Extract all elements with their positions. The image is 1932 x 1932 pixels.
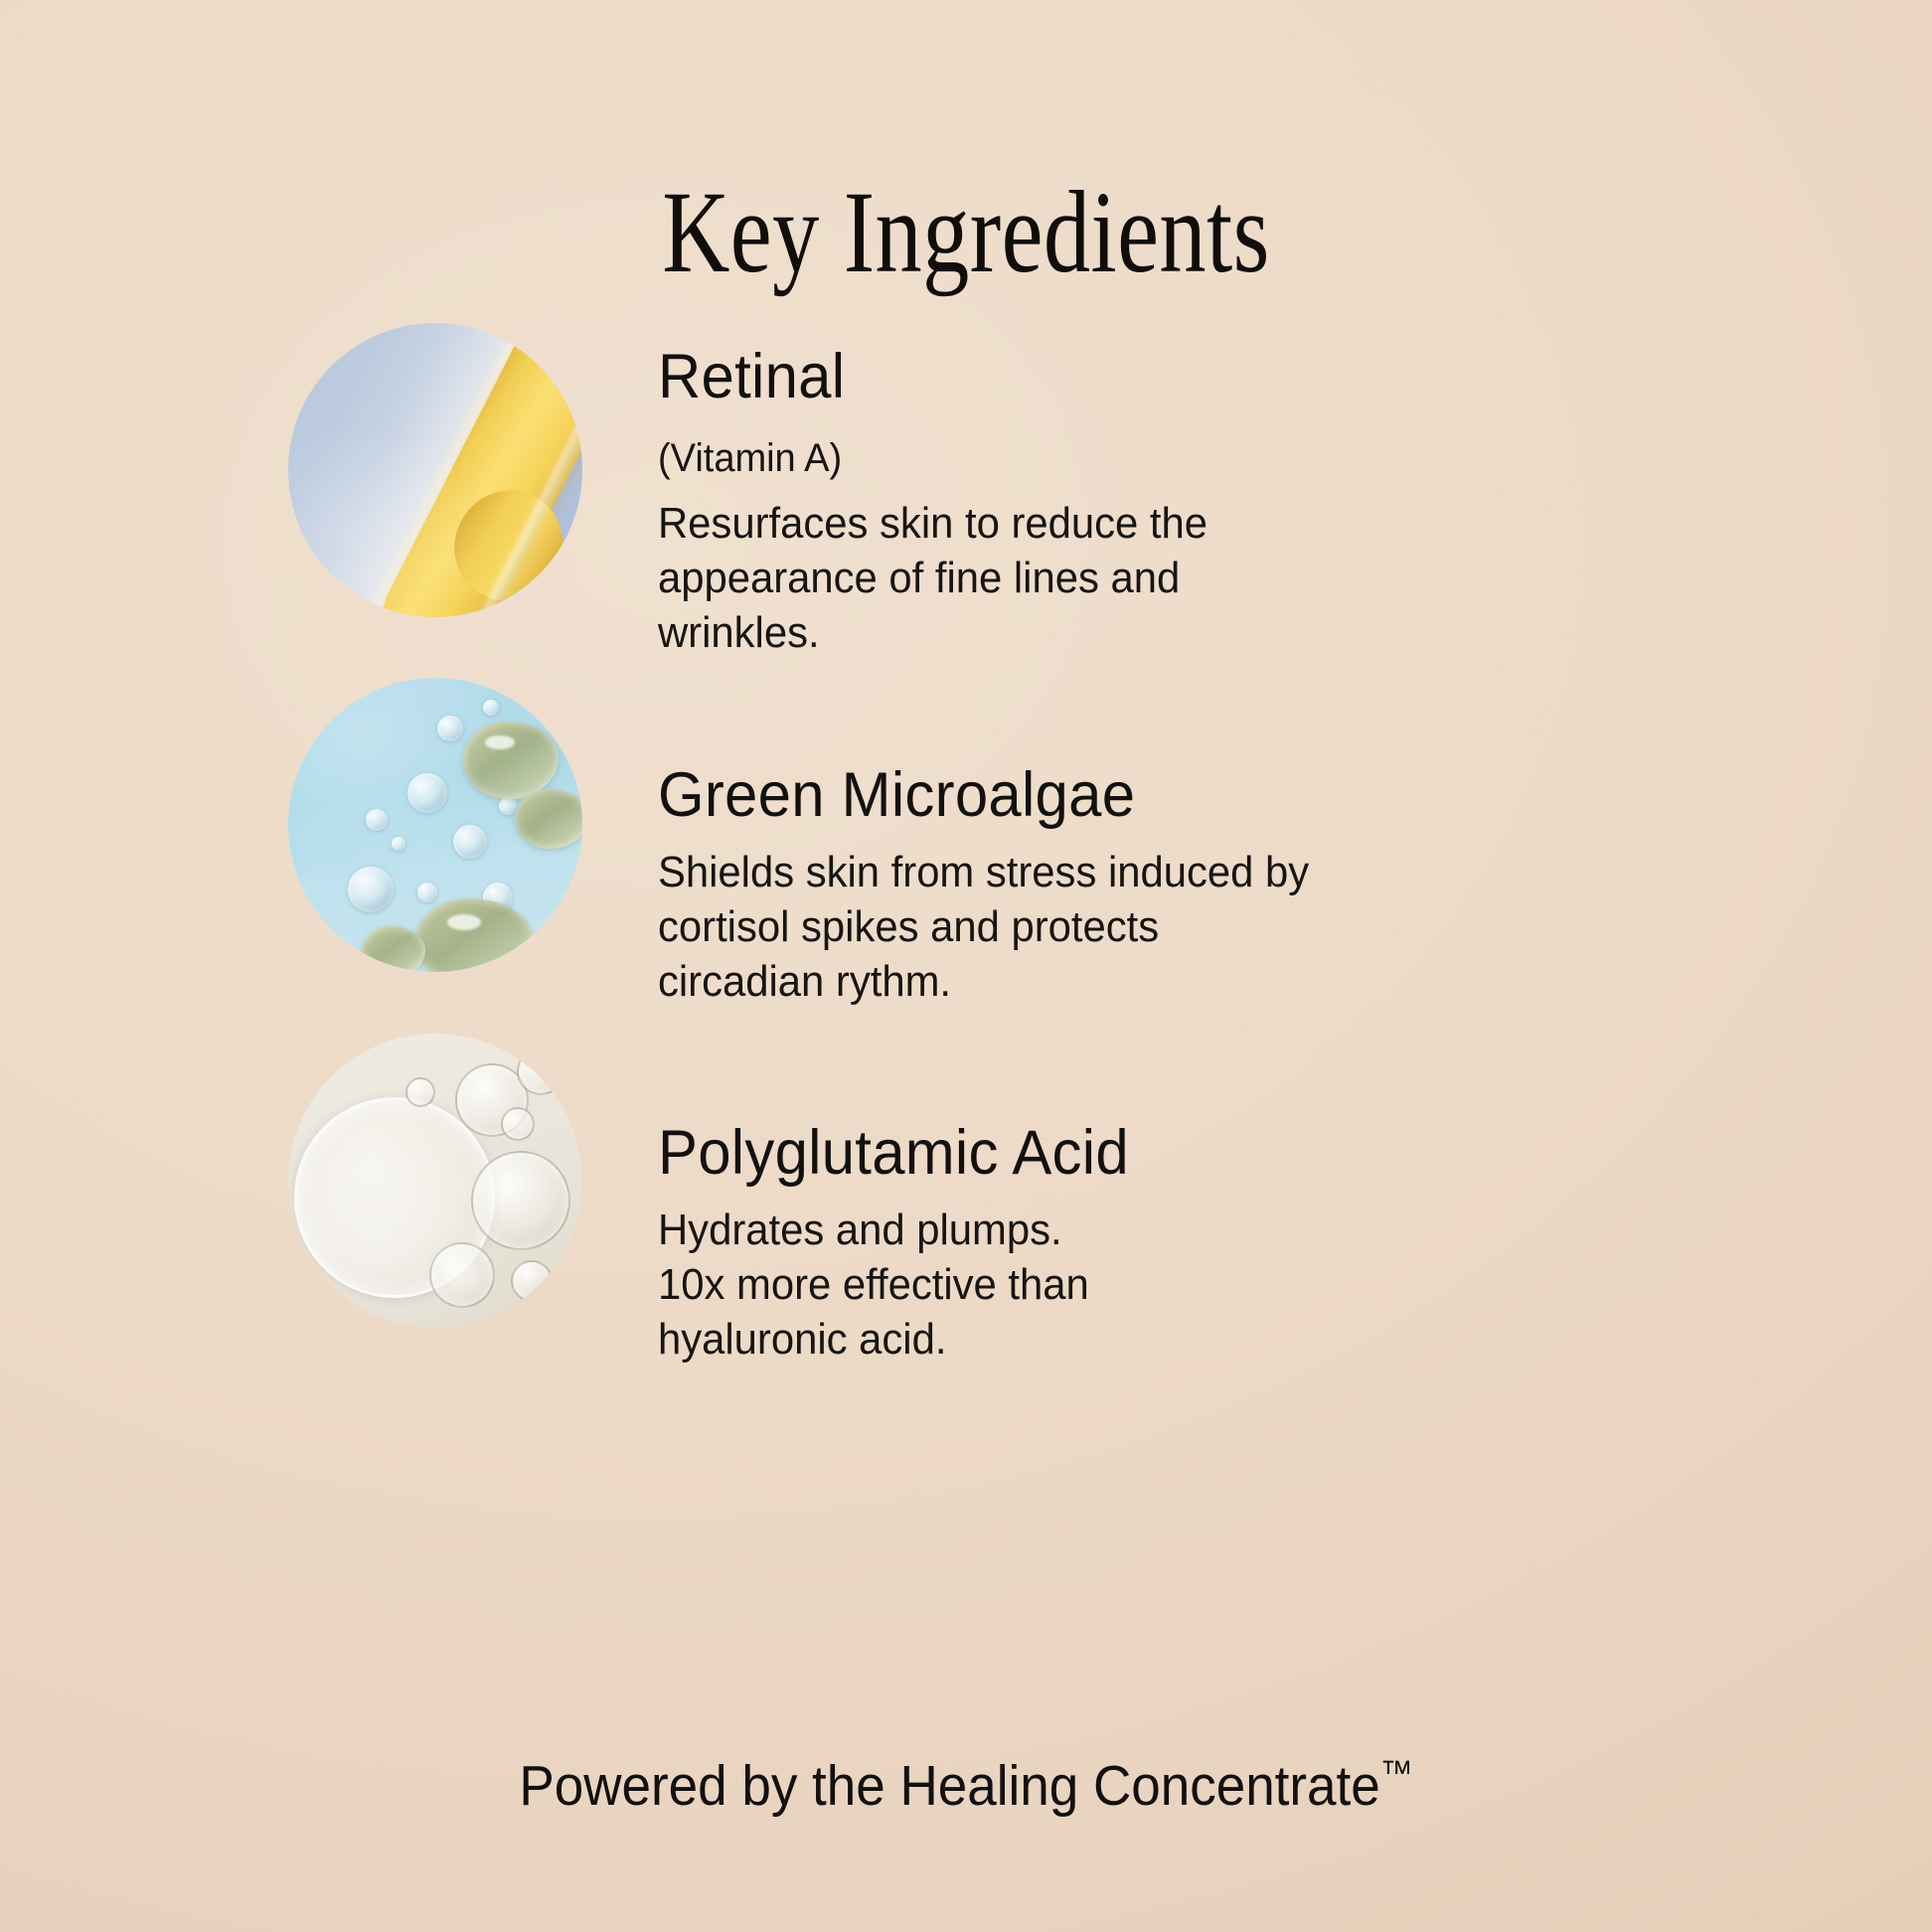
ingredient-row-green-microalgae: Green Microalgae Shields skin from stres… — [0, 678, 1932, 1010]
ingredient-name: Polyglutamic Acid — [658, 1121, 1725, 1187]
ingredient-name: Retinal — [658, 345, 1725, 410]
footer-tagline-text: Powered by the Healing Concentrate — [519, 1754, 1379, 1818]
ingredient-thumbnail-wrap-retinal — [288, 323, 586, 621]
ingredient-description: Resurfaces skin to reduce the appearance… — [658, 496, 1725, 661]
photo-sheen-overlay — [288, 323, 582, 617]
green-microalgae-bubbles-photo — [288, 678, 582, 972]
ingredient-thumbnail-wrap-polyglutamic-acid — [288, 1034, 586, 1332]
retinal-dropper-photo — [288, 323, 582, 617]
photo-sheen-overlay — [288, 678, 582, 972]
trademark-icon: ™ — [1380, 1754, 1413, 1793]
photo-sheen-overlay — [288, 1034, 582, 1328]
ingredient-subtitle: (Vitamin A) — [658, 436, 1725, 480]
ingredient-row-polyglutamic-acid: Polyglutamic Acid Hydrates and plumps. 1… — [0, 1034, 1932, 1368]
ingredient-name: Green Microalgae — [658, 763, 1725, 829]
ingredient-text-polyglutamic-acid: Polyglutamic Acid Hydrates and plumps. 1… — [658, 1034, 1781, 1368]
ingredient-description: Shields skin from stress induced by cort… — [658, 845, 1725, 1010]
ingredient-row-retinal: Retinal (Vitamin A) Resurfaces skin to r… — [0, 323, 1932, 661]
ingredient-description: Hydrates and plumps. 10x more effective … — [658, 1203, 1725, 1368]
ingredient-text-retinal: Retinal (Vitamin A) Resurfaces skin to r… — [658, 323, 1781, 661]
page-title: Key Ingredients — [193, 174, 1738, 291]
ingredient-text-green-microalgae: Green Microalgae Shields skin from stres… — [658, 678, 1781, 1010]
polyglutamic-acid-gel-bubbles-photo — [288, 1034, 582, 1328]
ingredient-thumbnail-wrap-green-microalgae — [288, 678, 586, 976]
footer-tagline: Powered by the Healing Concentrate™ — [68, 1755, 1864, 1818]
